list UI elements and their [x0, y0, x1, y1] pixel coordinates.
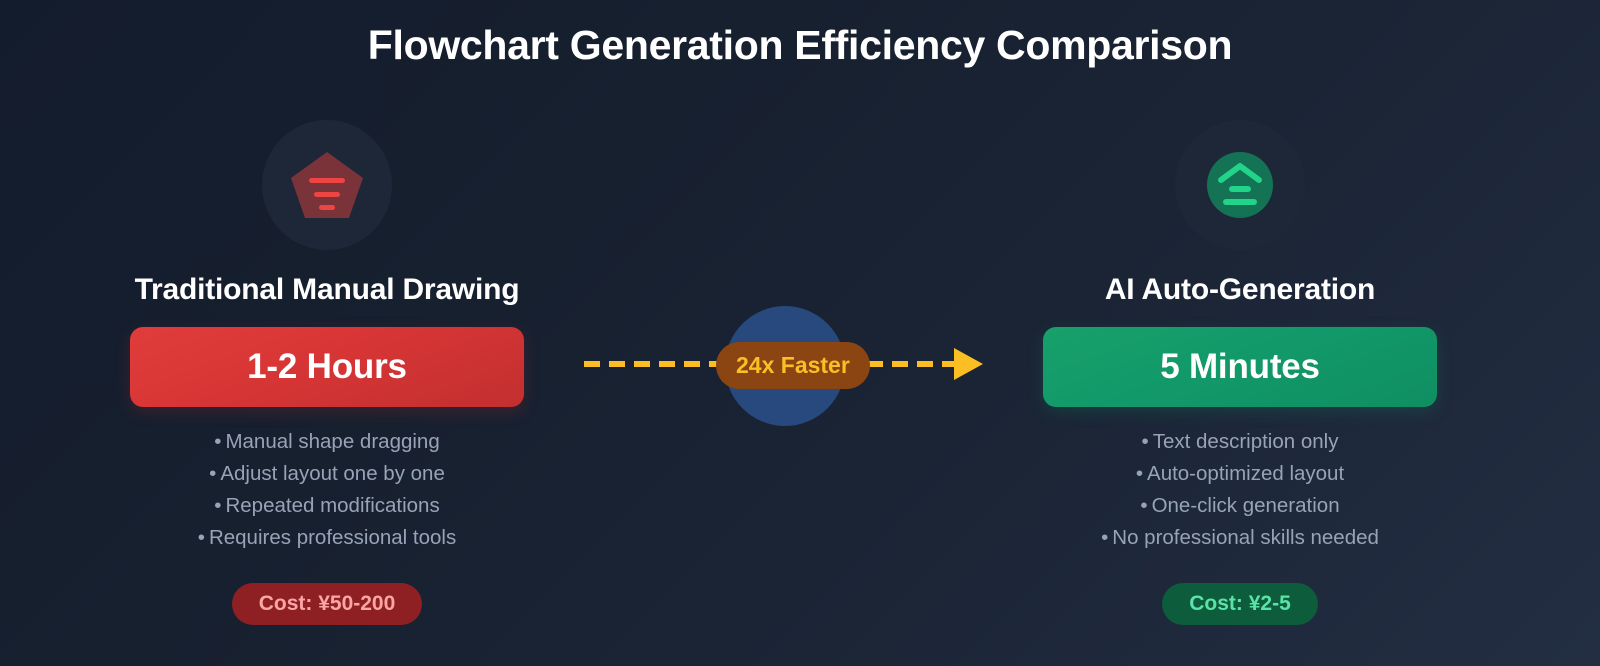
bullet-icon: • [209, 462, 216, 485]
list-item: •One-click generation [1101, 490, 1379, 522]
list-item-label: Repeated modifications [225, 494, 439, 517]
list-item: •Auto-optimized layout [1101, 458, 1379, 490]
traditional-feature-list: •Manual shape dragging •Adjust layout on… [198, 426, 456, 554]
traditional-icon-medallion [262, 120, 392, 250]
list-item: •Requires professional tools [198, 522, 456, 554]
list-item: •Repeated modifications [198, 490, 456, 522]
ai-chevron-lines-icon [1201, 146, 1279, 224]
bullet-icon: • [214, 494, 221, 517]
traditional-time-badge: 1-2 Hours [130, 327, 524, 407]
list-item: •Text description only [1101, 426, 1379, 458]
list-item-label: Adjust layout one by one [220, 462, 445, 485]
pentagon-lines-icon [288, 146, 366, 224]
speed-multiplier-badge: 24x Faster [716, 342, 870, 389]
list-item-label: Auto-optimized layout [1147, 462, 1344, 485]
ai-icon-medallion [1175, 120, 1305, 250]
bullet-icon: • [1136, 462, 1143, 485]
list-item: •Manual shape dragging [198, 426, 456, 458]
bullet-icon: • [198, 526, 205, 549]
bullet-icon: • [1101, 526, 1108, 549]
list-item-label: One-click generation [1152, 494, 1340, 517]
bullet-icon: • [1140, 494, 1147, 517]
list-item-label: Requires professional tools [209, 526, 456, 549]
ai-feature-list: •Text description only •Auto-optimized l… [1101, 426, 1379, 554]
bullet-icon: • [214, 430, 221, 453]
list-item-label: No professional skills needed [1112, 526, 1379, 549]
ai-time-badge: 5 Minutes [1043, 327, 1437, 407]
list-item-label: Text description only [1153, 430, 1339, 453]
page-title: Flowchart Generation Efficiency Comparis… [0, 22, 1600, 69]
traditional-heading: Traditional Manual Drawing [135, 273, 520, 307]
ai-heading: AI Auto-Generation [1105, 273, 1375, 307]
infographic-canvas: Flowchart Generation Efficiency Comparis… [0, 0, 1600, 666]
bullet-icon: • [1142, 430, 1149, 453]
comparison-column-ai: AI Auto-Generation 5 Minutes •Text descr… [960, 120, 1520, 625]
comparison-column-traditional: Traditional Manual Drawing 1-2 Hours •Ma… [47, 120, 607, 625]
list-item: •Adjust layout one by one [198, 458, 456, 490]
list-item-label: Manual shape dragging [225, 430, 439, 453]
ai-cost-badge: Cost: ¥2-5 [1162, 583, 1318, 625]
list-item: •No professional skills needed [1101, 522, 1379, 554]
traditional-cost-badge: Cost: ¥50-200 [232, 583, 423, 625]
